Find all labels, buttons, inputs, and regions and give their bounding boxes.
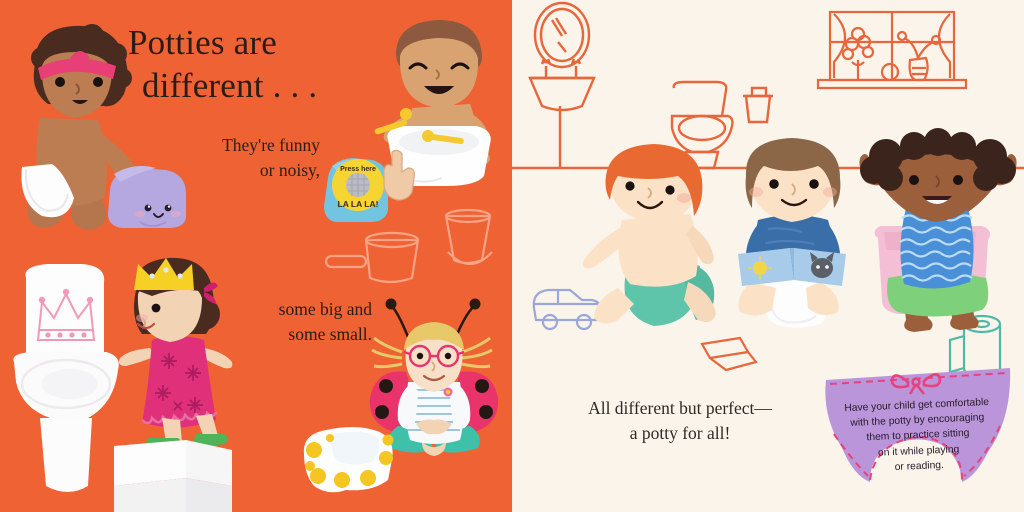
child-reading-book-on-potty — [724, 132, 864, 332]
mirror-line-art — [535, 3, 589, 67]
purple-smiling-potty — [100, 160, 195, 235]
white-toilet-with-crown — [0, 258, 121, 508]
bucket-outline — [436, 208, 500, 278]
caption-all-different: All different but perfect— a potty for a… — [556, 396, 804, 447]
sound-button-label-top: Press here — [340, 166, 376, 173]
window-with-plants-line-art — [818, 12, 966, 88]
sound-button-label-bottom: LA LA LA! — [338, 199, 379, 209]
ladybug-girl-head — [404, 322, 464, 392]
princess-girl-on-step-stool — [112, 252, 242, 452]
girl-with-afro-puffs-on-pink-potty — [844, 132, 1019, 337]
afro-puff-head — [860, 128, 1016, 222]
right-page: All different but perfect— a potty for a… — [512, 0, 1024, 512]
baby-head — [396, 20, 482, 108]
parent-tip-underpants-note: Have your child get comfortable with the… — [812, 360, 1024, 490]
red-child-head — [606, 144, 703, 224]
red-haired-child-on-green-potty — [574, 142, 744, 342]
yellow-polka-dot-potty — [292, 418, 404, 500]
folded-wipes-line-art — [702, 338, 756, 370]
caption-all-different-line2: a potty for all! — [556, 421, 804, 446]
saucepan-outline — [322, 228, 432, 288]
reading-child-head — [746, 138, 841, 222]
trash-can-line-art — [743, 88, 773, 122]
caption-all-different-line1: All different but perfect— — [556, 396, 804, 421]
parent-tip-text: Have your child get comfortable with the… — [820, 394, 1015, 478]
white-step-stool — [114, 424, 234, 512]
book-spread: Potties are different . . . They're funn… — [0, 0, 1024, 512]
pointing-hand-icon — [378, 148, 418, 202]
left-page: Potties are different . . . They're funn… — [0, 0, 512, 512]
toddler-head — [31, 24, 132, 118]
